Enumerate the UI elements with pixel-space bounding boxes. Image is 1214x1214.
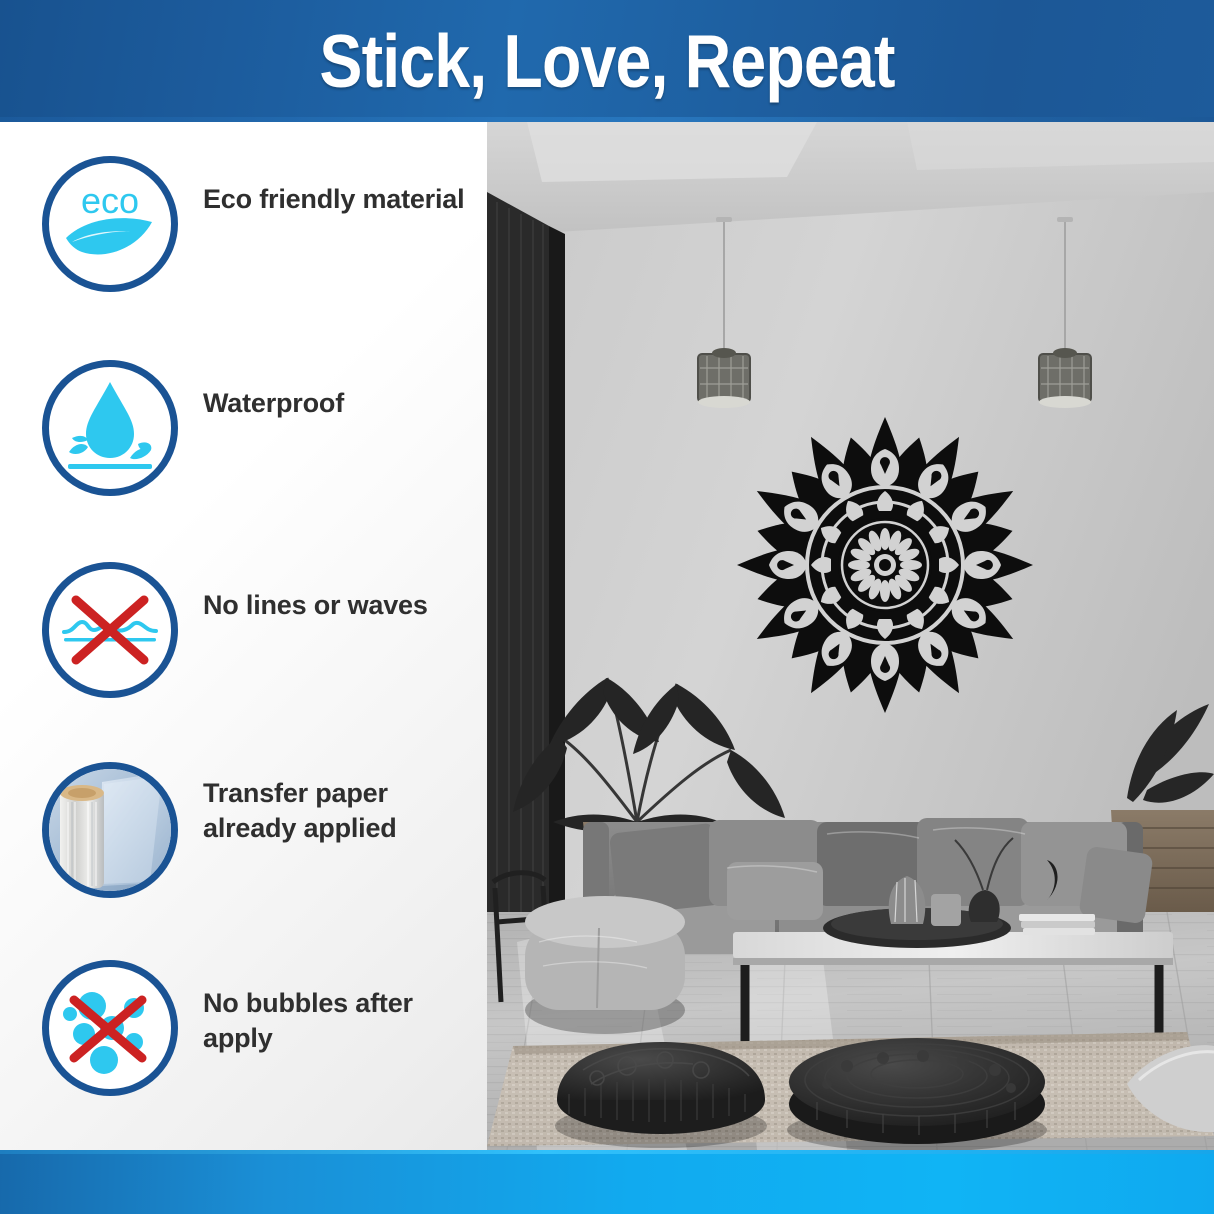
feature-item-no-lines: No lines or waves bbox=[0, 562, 487, 698]
feature-label: Transfer paper already applied bbox=[203, 776, 487, 845]
no-waves-glyph bbox=[42, 562, 178, 698]
floor-cushion-left bbox=[555, 1042, 767, 1148]
water-drop-icon bbox=[42, 360, 178, 496]
room-scene bbox=[487, 122, 1214, 1150]
footer-bar bbox=[0, 1150, 1214, 1214]
feature-label: No bubbles after apply bbox=[203, 986, 487, 1055]
no-bubbles-icon bbox=[42, 960, 178, 1096]
no-bubbles-glyph bbox=[42, 960, 178, 1096]
eco-leaf-icon: eco bbox=[42, 156, 178, 292]
feature-label: Waterproof bbox=[203, 386, 344, 421]
water-drop-glyph bbox=[42, 360, 178, 496]
ottoman bbox=[525, 896, 685, 1034]
feature-item-waterproof: Waterproof bbox=[0, 360, 487, 496]
transfer-film-glyph bbox=[42, 762, 178, 898]
room-photo bbox=[487, 122, 1214, 1150]
feature-label: Eco friendly material bbox=[203, 182, 464, 217]
feature-list-panel: eco Eco friendly material W bbox=[0, 122, 487, 1150]
feature-item-eco-friendly: eco Eco friendly material bbox=[0, 156, 487, 292]
eco-leaf-glyph: eco bbox=[42, 156, 178, 292]
product-infographic: Stick, Love, Repeat eco Eco friendly mat… bbox=[0, 0, 1214, 1214]
feature-label: No lines or waves bbox=[203, 588, 428, 623]
no-waves-icon bbox=[42, 562, 178, 698]
svg-text:eco: eco bbox=[81, 180, 139, 221]
header-banner: Stick, Love, Repeat bbox=[0, 0, 1214, 122]
feature-item-no-bubbles: No bubbles after apply bbox=[0, 960, 487, 1096]
floor-cushion-right bbox=[787, 1038, 1047, 1150]
feature-item-transfer-paper: Transfer paper already applied bbox=[0, 762, 487, 898]
transfer-film-icon bbox=[42, 762, 178, 898]
page-title: Stick, Love, Repeat bbox=[85, 0, 1129, 122]
